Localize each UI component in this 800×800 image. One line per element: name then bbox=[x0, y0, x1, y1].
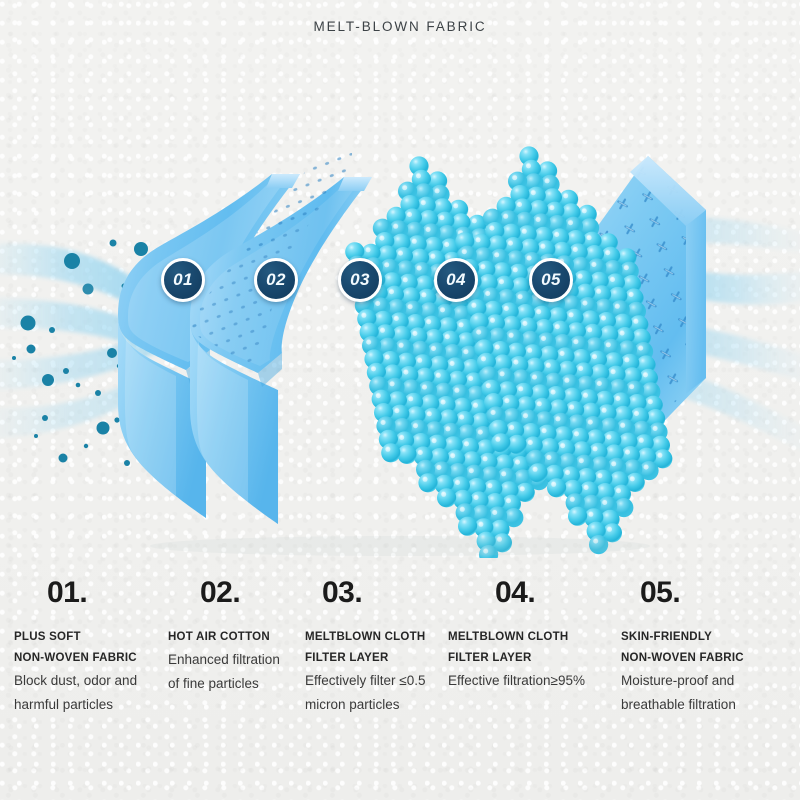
legend-list: 01. PLUS SOFT NON-WOVEN FABRIC Block dus… bbox=[0, 578, 800, 800]
legend-heading-03-line2: FILTER LAYER bbox=[305, 648, 455, 669]
legend-heading-04-line1: MELTBLOWN CLOTH bbox=[448, 627, 608, 648]
legend-body-04-line1: Effective filtration≥95% bbox=[448, 669, 608, 693]
legend-body-05-line1: Moisture-proof and bbox=[621, 669, 791, 693]
legend-number-02: 02. bbox=[200, 578, 318, 608]
fabric-layers-illustration bbox=[0, 48, 800, 558]
legend-body-02-line2: of fine particles bbox=[168, 672, 318, 696]
legend-number-03: 03. bbox=[322, 578, 455, 608]
legend-heading-04-line2: FILTER LAYER bbox=[448, 648, 608, 669]
legend-heading-01-line2: NON-WOVEN FABRIC bbox=[14, 648, 174, 669]
legend-heading-03-line1: MELTBLOWN CLOTH bbox=[305, 627, 455, 648]
legend-body-03-line1: Effectively filter ≤0.5 bbox=[305, 669, 455, 693]
legend-number-05: 05. bbox=[640, 578, 791, 608]
legend-heading-02-line1: HOT AIR COTTON bbox=[168, 627, 318, 648]
legend-item-04: 04. MELTBLOWN CLOTH FILTER LAYER Effecti… bbox=[448, 578, 608, 693]
legend-item-05: 05. SKIN-FRIENDLY NON-WOVEN FABRIC Moist… bbox=[621, 578, 791, 717]
legend-item-01: 01. PLUS SOFT NON-WOVEN FABRIC Block dus… bbox=[14, 578, 174, 717]
legend-body-03-line2: micron particles bbox=[305, 693, 455, 717]
legend-item-02: 02. HOT AIR COTTON Enhanced filtration o… bbox=[168, 578, 318, 696]
legend-item-03: 03. MELTBLOWN CLOTH FILTER LAYER Effecti… bbox=[305, 578, 455, 717]
legend-body-02-line1: Enhanced filtration bbox=[168, 648, 318, 672]
layer-badge-03[interactable]: 03 bbox=[338, 258, 382, 302]
legend-number-04: 04. bbox=[495, 578, 608, 608]
legend-heading-05-line2: NON-WOVEN FABRIC bbox=[621, 648, 791, 669]
layer-badge-04[interactable]: 04 bbox=[434, 258, 478, 302]
layer-badge-05[interactable]: 05 bbox=[529, 258, 573, 302]
layer-badge-01[interactable]: 01 bbox=[161, 258, 205, 302]
legend-heading-01-line1: PLUS SOFT bbox=[14, 627, 174, 648]
legend-heading-05-line1: SKIN-FRIENDLY bbox=[621, 627, 791, 648]
infographic-stage: MELT-BLOWN FABRIC bbox=[0, 0, 800, 800]
legend-body-05-line2: breathable filtration bbox=[621, 693, 791, 717]
legend-body-01-line2: harmful particles bbox=[14, 693, 174, 717]
layer-badge-02[interactable]: 02 bbox=[254, 258, 298, 302]
legend-number-01: 01. bbox=[47, 578, 174, 608]
legend-body-01-line1: Block dust, odor and bbox=[14, 669, 174, 693]
page-title: MELT-BLOWN FABRIC bbox=[0, 19, 800, 34]
